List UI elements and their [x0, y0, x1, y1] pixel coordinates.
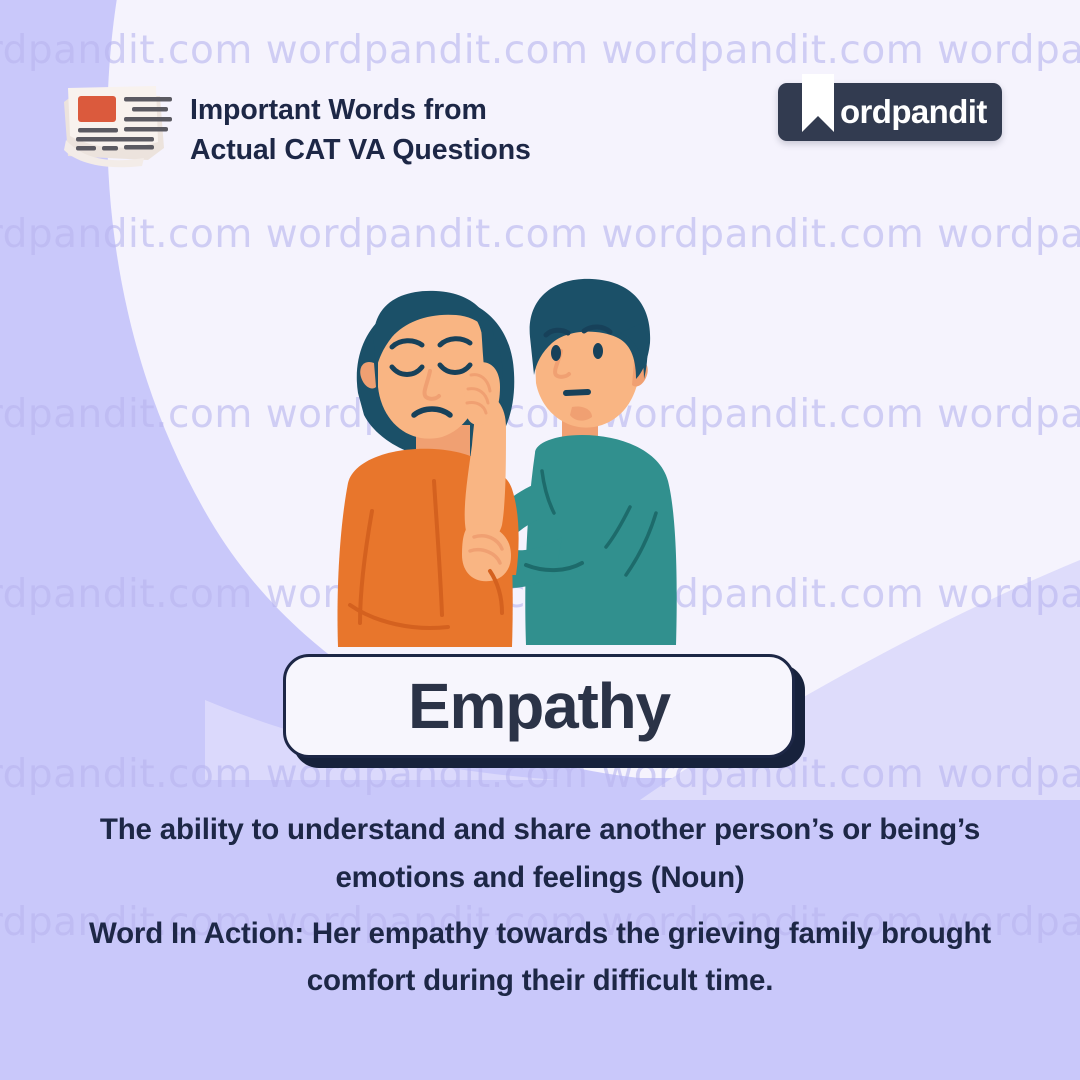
page-title: Important Words from Actual CAT VA Quest… [190, 90, 531, 171]
woman-figure [337, 291, 518, 647]
word-card[interactable]: Empathy [283, 654, 795, 758]
empathy-illustration [330, 275, 750, 660]
poster-canvas: wordpandit.com wordpandit.com wordpandit… [0, 0, 1080, 1080]
definition-text: The ability to understand and share anot… [0, 806, 1080, 902]
bookmark-icon [798, 74, 838, 136]
newspaper-icon [52, 72, 180, 168]
header: Important Words from Actual CAT VA Quest… [0, 0, 1080, 185]
logo-text: ordpandit [840, 91, 987, 133]
wordpandit-logo[interactable]: ordpandit [778, 83, 1002, 141]
usage-text: Word In Action: Her empathy towards the … [0, 910, 1080, 1006]
page-title-line-2: Actual CAT VA Questions [190, 130, 531, 170]
page-title-line-1: Important Words from [190, 94, 487, 126]
word-label: Empathy [408, 669, 670, 743]
content-block: The ability to understand and share anot… [0, 806, 1080, 1005]
word-card-face: Empathy [283, 654, 795, 758]
